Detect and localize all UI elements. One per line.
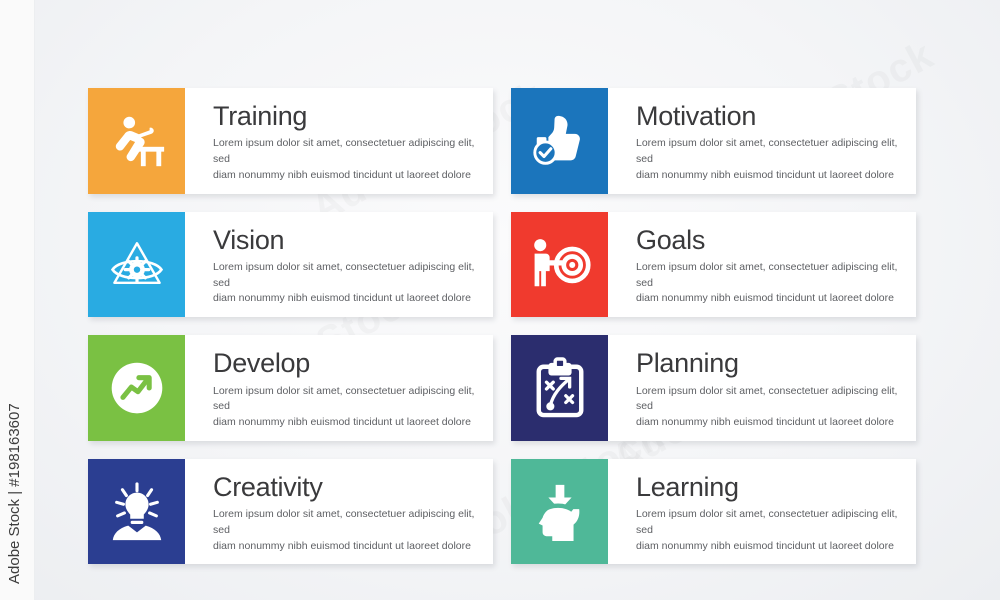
card-description-line2: diam nonummy nibh euismod tincidunt ut l… — [636, 168, 900, 184]
card-description: Lorem ipsum dolor sit amet, consectetuer… — [636, 136, 900, 183]
card-title: Vision — [213, 226, 477, 254]
card-body: Develop Lorem ipsum dolor sit amet, cons… — [185, 335, 493, 441]
clipboard-strategy-icon — [532, 357, 588, 419]
card-motivation[interactable]: Motivation Lorem ipsum dolor sit amet, c… — [511, 88, 916, 194]
card-description-line2: diam nonummy nibh euismod tincidunt ut l… — [213, 415, 477, 431]
card-description: Lorem ipsum dolor sit amet, consectetuer… — [213, 384, 477, 431]
card-planning[interactable]: Planning Lorem ipsum dolor sit amet, con… — [511, 335, 916, 441]
card-description: Lorem ipsum dolor sit amet, consectetuer… — [213, 507, 477, 554]
card-vision[interactable]: Vision Lorem ipsum dolor sit amet, conse… — [88, 212, 493, 318]
card-description-line2: diam nonummy nibh euismod tincidunt ut l… — [636, 539, 900, 555]
card-body: Goals Lorem ipsum dolor sit amet, consec… — [608, 212, 916, 318]
card-title: Training — [213, 102, 477, 130]
card-creativity[interactable]: Creativity Lorem ipsum dolor sit amet, c… — [88, 459, 493, 565]
card-description-line1: Lorem ipsum dolor sit amet, consectetuer… — [213, 260, 477, 292]
head-arrow-in-icon — [530, 481, 590, 543]
card-body: Vision Lorem ipsum dolor sit amet, conse… — [185, 212, 493, 318]
card-develop[interactable]: Develop Lorem ipsum dolor sit amet, cons… — [88, 335, 493, 441]
card-icon-tile — [511, 335, 608, 441]
card-title: Creativity — [213, 473, 477, 501]
person-lightbulb-icon — [106, 481, 168, 543]
card-description-line1: Lorem ipsum dolor sit amet, consectetuer… — [636, 384, 900, 416]
card-description-line1: Lorem ipsum dolor sit amet, consectetuer… — [213, 507, 477, 539]
card-icon-tile — [511, 88, 608, 194]
eye-gear-icon — [105, 233, 169, 295]
card-description-line1: Lorem ipsum dolor sit amet, consectetuer… — [213, 384, 477, 416]
card-title: Motivation — [636, 102, 900, 130]
watermark-credit-label: Adobe Stock | #198163607 — [6, 403, 23, 584]
card-icon-tile — [88, 88, 185, 194]
card-body: Training Lorem ipsum dolor sit amet, con… — [185, 88, 493, 194]
card-description-line1: Lorem ipsum dolor sit amet, consectetuer… — [636, 260, 900, 292]
card-body: Learning Lorem ipsum dolor sit amet, con… — [608, 459, 916, 565]
card-description-line2: diam nonummy nibh euismod tincidunt ut l… — [636, 291, 900, 307]
card-body: Planning Lorem ipsum dolor sit amet, con… — [608, 335, 916, 441]
card-title: Learning — [636, 473, 900, 501]
watermark-credit: Adobe Stock | #198163607 — [6, 403, 24, 584]
infographic-grid: Training Lorem ipsum dolor sit amet, con… — [88, 88, 916, 536]
card-description-line2: diam nonummy nibh euismod tincidunt ut l… — [213, 291, 477, 307]
card-title: Develop — [213, 349, 477, 377]
watermark-rail: Adobe Stock | #198163607 — [0, 0, 35, 600]
card-body: Creativity Lorem ipsum dolor sit amet, c… — [185, 459, 493, 565]
card-description: Lorem ipsum dolor sit amet, consectetuer… — [636, 384, 900, 431]
card-description: Lorem ipsum dolor sit amet, consectetuer… — [636, 507, 900, 554]
card-icon-tile — [88, 335, 185, 441]
card-title: Planning — [636, 349, 900, 377]
card-goals[interactable]: Goals Lorem ipsum dolor sit amet, consec… — [511, 212, 916, 318]
card-icon-tile — [511, 212, 608, 318]
card-description-line2: diam nonummy nibh euismod tincidunt ut l… — [213, 168, 477, 184]
card-description: Lorem ipsum dolor sit amet, consectetuer… — [213, 260, 477, 307]
card-description-line2: diam nonummy nibh euismod tincidunt ut l… — [636, 415, 900, 431]
card-body: Motivation Lorem ipsum dolor sit amet, c… — [608, 88, 916, 194]
card-title: Goals — [636, 226, 900, 254]
card-description-line1: Lorem ipsum dolor sit amet, consectetuer… — [636, 136, 900, 168]
person-target-icon — [528, 235, 592, 293]
card-training[interactable]: Training Lorem ipsum dolor sit amet, con… — [88, 88, 493, 194]
card-icon-tile — [88, 459, 185, 565]
card-description-line1: Lorem ipsum dolor sit amet, consectetuer… — [636, 507, 900, 539]
card-description: Lorem ipsum dolor sit amet, consectetuer… — [636, 260, 900, 307]
card-icon-tile — [511, 459, 608, 565]
card-description-line2: diam nonummy nibh euismod tincidunt ut l… — [213, 539, 477, 555]
growth-chart-circle-icon — [107, 358, 167, 418]
card-description-line1: Lorem ipsum dolor sit amet, consectetuer… — [213, 136, 477, 168]
card-description: Lorem ipsum dolor sit amet, consectetuer… — [213, 136, 477, 183]
hurdle-runner-icon — [106, 110, 168, 172]
card-learning[interactable]: Learning Lorem ipsum dolor sit amet, con… — [511, 459, 916, 565]
card-icon-tile — [88, 212, 185, 318]
thumbs-up-check-icon — [529, 110, 591, 172]
